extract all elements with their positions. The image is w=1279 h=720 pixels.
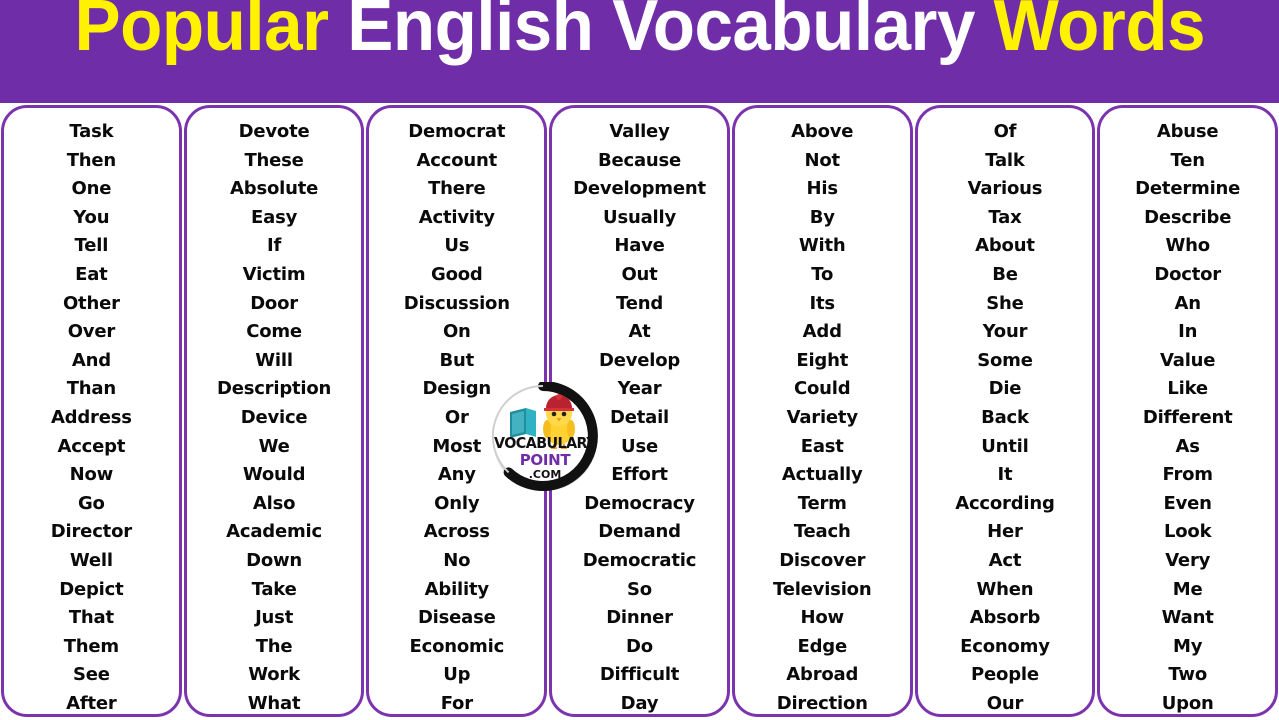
word-item: To: [737, 261, 908, 290]
word-item: Other: [6, 290, 177, 319]
word-item: Back: [920, 404, 1091, 433]
word-item: After: [6, 690, 177, 717]
word-item: Economy: [920, 633, 1091, 662]
word-item: Tell: [6, 232, 177, 261]
word-item: Not: [737, 147, 908, 176]
word-item: Director: [6, 518, 177, 547]
title-word-english: English: [347, 0, 593, 66]
word-item: Well: [6, 547, 177, 576]
word-item: But: [371, 347, 542, 376]
word-item: Most: [371, 433, 542, 462]
word-item: Effort: [554, 461, 725, 490]
word-item: We: [189, 433, 360, 462]
word-item: An: [1102, 290, 1273, 319]
word-item: Talk: [920, 147, 1091, 176]
word-item: See: [6, 661, 177, 690]
word-item: Tend: [554, 290, 725, 319]
word-column-6: Of Talk Various Tax About Be She Your So…: [915, 105, 1096, 717]
word-item: Account: [371, 147, 542, 176]
word-item: Easy: [189, 204, 360, 233]
word-item: Democrat: [371, 118, 542, 147]
title-word-vocabulary: Vocabulary: [612, 0, 975, 66]
word-item: Until: [920, 433, 1091, 462]
word-item: Just: [189, 604, 360, 633]
word-item: Ability: [371, 576, 542, 605]
word-item: Development: [554, 175, 725, 204]
word-item: Now: [6, 461, 177, 490]
word-item: From: [1102, 461, 1273, 490]
word-item: Discover: [737, 547, 908, 576]
word-item: Work: [189, 661, 360, 690]
word-item: Down: [189, 547, 360, 576]
word-item: Democratic: [554, 547, 725, 576]
word-item: Above: [737, 118, 908, 147]
word-item: Description: [189, 375, 360, 404]
word-item: Across: [371, 518, 542, 547]
word-column-2: Devote These Absolute Easy If Victim Doo…: [184, 105, 365, 717]
word-item: With: [737, 232, 908, 261]
word-item: Very: [1102, 547, 1273, 576]
word-item: Term: [737, 490, 908, 519]
word-item: Upon: [1102, 690, 1273, 717]
word-item: Would: [189, 461, 360, 490]
word-item: Describe: [1102, 204, 1273, 233]
word-item: Your: [920, 318, 1091, 347]
word-item: Its: [737, 290, 908, 319]
word-item: Act: [920, 547, 1091, 576]
word-item: Abroad: [737, 661, 908, 690]
word-item: That: [6, 604, 177, 633]
word-item: Because: [554, 147, 725, 176]
word-item: Year: [554, 375, 725, 404]
word-item: One: [6, 175, 177, 204]
word-item: Go: [6, 490, 177, 519]
word-item: Up: [371, 661, 542, 690]
word-item: Or: [371, 404, 542, 433]
word-item: Come: [189, 318, 360, 347]
word-item: Do: [554, 633, 725, 662]
word-column-7: Abuse Ten Determine Describe Who Doctor …: [1097, 105, 1278, 717]
word-item: Then: [6, 147, 177, 176]
word-item: Eat: [6, 261, 177, 290]
word-item: So: [554, 576, 725, 605]
word-item: Develop: [554, 347, 725, 376]
word-item: Want: [1102, 604, 1273, 633]
word-item: His: [737, 175, 908, 204]
word-item: Value: [1102, 347, 1273, 376]
word-item: Different: [1102, 404, 1273, 433]
word-item: Die: [920, 375, 1091, 404]
word-item: Demand: [554, 518, 725, 547]
word-item: Academic: [189, 518, 360, 547]
word-item: Actually: [737, 461, 908, 490]
word-item: Look: [1102, 518, 1273, 547]
word-item: Than: [6, 375, 177, 404]
word-item: Also: [189, 490, 360, 519]
word-column-4: Valley Because Development Usually Have …: [549, 105, 730, 717]
word-item: Of: [920, 118, 1091, 147]
word-item: Address: [6, 404, 177, 433]
word-item: If: [189, 232, 360, 261]
word-item: You: [6, 204, 177, 233]
word-item: How: [737, 604, 908, 633]
word-item: About: [920, 232, 1091, 261]
word-columns-container: Task Then One You Tell Eat Other Over An…: [0, 105, 1279, 717]
word-item: The: [189, 633, 360, 662]
word-item: Ten: [1102, 147, 1273, 176]
word-item: Have: [554, 232, 725, 261]
page-title: Popular English Vocabulary Words: [74, 0, 1205, 65]
word-item: Absolute: [189, 175, 360, 204]
word-item: It: [920, 461, 1091, 490]
word-item: Disease: [371, 604, 542, 633]
word-item: And: [6, 347, 177, 376]
word-item: Victim: [189, 261, 360, 290]
word-item: In: [1102, 318, 1273, 347]
word-column-5: Above Not His By With To Its Add Eight C…: [732, 105, 913, 717]
word-item: Some: [920, 347, 1091, 376]
word-item: As: [1102, 433, 1273, 462]
word-item: Democracy: [554, 490, 725, 519]
word-item: By: [737, 204, 908, 233]
word-item: Tax: [920, 204, 1091, 233]
word-item: Detail: [554, 404, 725, 433]
word-item: On: [371, 318, 542, 347]
word-item: Will: [189, 347, 360, 376]
word-item: Only: [371, 490, 542, 519]
word-item: Devote: [189, 118, 360, 147]
title-word-words: Words: [993, 0, 1204, 66]
word-item: She: [920, 290, 1091, 319]
word-item: People: [920, 661, 1091, 690]
word-item: Day: [554, 690, 725, 717]
word-item: Design: [371, 375, 542, 404]
word-item: For: [371, 690, 542, 717]
word-item: Good: [371, 261, 542, 290]
word-item: Out: [554, 261, 725, 290]
title-word-popular: Popular: [74, 0, 328, 66]
word-item: Who: [1102, 232, 1273, 261]
word-item: Me: [1102, 576, 1273, 605]
word-item: Doctor: [1102, 261, 1273, 290]
word-item: Activity: [371, 204, 542, 233]
word-item: Over: [6, 318, 177, 347]
word-column-1: Task Then One You Tell Eat Other Over An…: [1, 105, 182, 717]
word-item: Take: [189, 576, 360, 605]
word-item: At: [554, 318, 725, 347]
word-column-3: Democrat Account There Activity Us Good …: [366, 105, 547, 717]
header-banner: Popular English Vocabulary Words: [0, 0, 1279, 103]
vocabulary-word-list-page: Popular English Vocabulary Words Task Th…: [0, 0, 1279, 720]
word-item: Like: [1102, 375, 1273, 404]
word-item: Use: [554, 433, 725, 462]
word-item: Door: [189, 290, 360, 319]
word-item: Absorb: [920, 604, 1091, 633]
word-item: Our: [920, 690, 1091, 717]
word-item: Accept: [6, 433, 177, 462]
word-item: Be: [920, 261, 1091, 290]
word-item: Could: [737, 375, 908, 404]
word-item: What: [189, 690, 360, 717]
word-item: Device: [189, 404, 360, 433]
word-item: Task: [6, 118, 177, 147]
word-item: These: [189, 147, 360, 176]
word-item: Various: [920, 175, 1091, 204]
word-item: Add: [737, 318, 908, 347]
word-item: Depict: [6, 576, 177, 605]
word-item: Her: [920, 518, 1091, 547]
word-item: Difficult: [554, 661, 725, 690]
word-item: Two: [1102, 661, 1273, 690]
word-item: Edge: [737, 633, 908, 662]
word-item: Eight: [737, 347, 908, 376]
word-item: Abuse: [1102, 118, 1273, 147]
word-item: Even: [1102, 490, 1273, 519]
word-item: Variety: [737, 404, 908, 433]
word-item: Them: [6, 633, 177, 662]
word-item: According: [920, 490, 1091, 519]
word-item: Dinner: [554, 604, 725, 633]
word-item: East: [737, 433, 908, 462]
word-item: Valley: [554, 118, 725, 147]
word-item: Television: [737, 576, 908, 605]
word-item: No: [371, 547, 542, 576]
word-item: Usually: [554, 204, 725, 233]
word-item: When: [920, 576, 1091, 605]
word-item: There: [371, 175, 542, 204]
word-item: Economic: [371, 633, 542, 662]
word-item: Us: [371, 232, 542, 261]
word-item: My: [1102, 633, 1273, 662]
word-item: Determine: [1102, 175, 1273, 204]
word-item: Any: [371, 461, 542, 490]
word-item: Discussion: [371, 290, 542, 319]
word-item: Teach: [737, 518, 908, 547]
word-item: Direction: [737, 690, 908, 717]
